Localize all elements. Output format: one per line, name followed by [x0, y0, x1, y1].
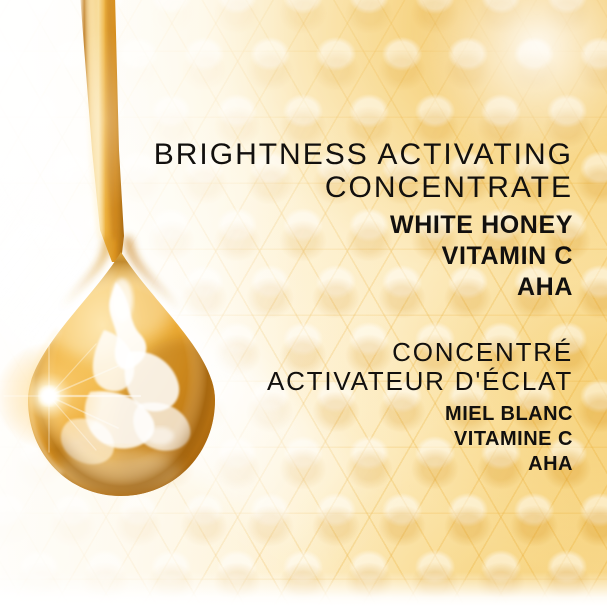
english-ingredient-aha: AHA [154, 272, 573, 303]
english-ingredient-vitamin-c: VITAMIN C [154, 241, 573, 272]
french-copy-block: CONCENTRÉ ACTIVATEUR D'ÉCLAT MIEL BLANC … [267, 338, 573, 477]
french-ingredient-aha: AHA [267, 452, 573, 477]
english-copy-block: BRIGHTNESS ACTIVATING CONCENTRATE WHITE … [154, 138, 573, 303]
french-headline-line-1: CONCENTRÉ [267, 338, 573, 367]
english-headline-line-1: BRIGHTNESS ACTIVATING [154, 138, 573, 171]
poster-canvas: BRIGHTNESS ACTIVATING CONCENTRATE WHITE … [0, 0, 607, 606]
french-ingredient-vitamine-c: VITAMINE C [267, 427, 573, 452]
french-ingredient-miel-blanc: MIEL BLANC [267, 402, 573, 427]
english-headline-line-2: CONCENTRATE [154, 171, 573, 204]
french-headline-line-2: ACTIVATEUR D'ÉCLAT [267, 367, 573, 396]
serum-droplet [0, 0, 607, 606]
serum-artwork [0, 0, 607, 606]
english-ingredient-white-honey: WHITE HONEY [154, 210, 573, 241]
